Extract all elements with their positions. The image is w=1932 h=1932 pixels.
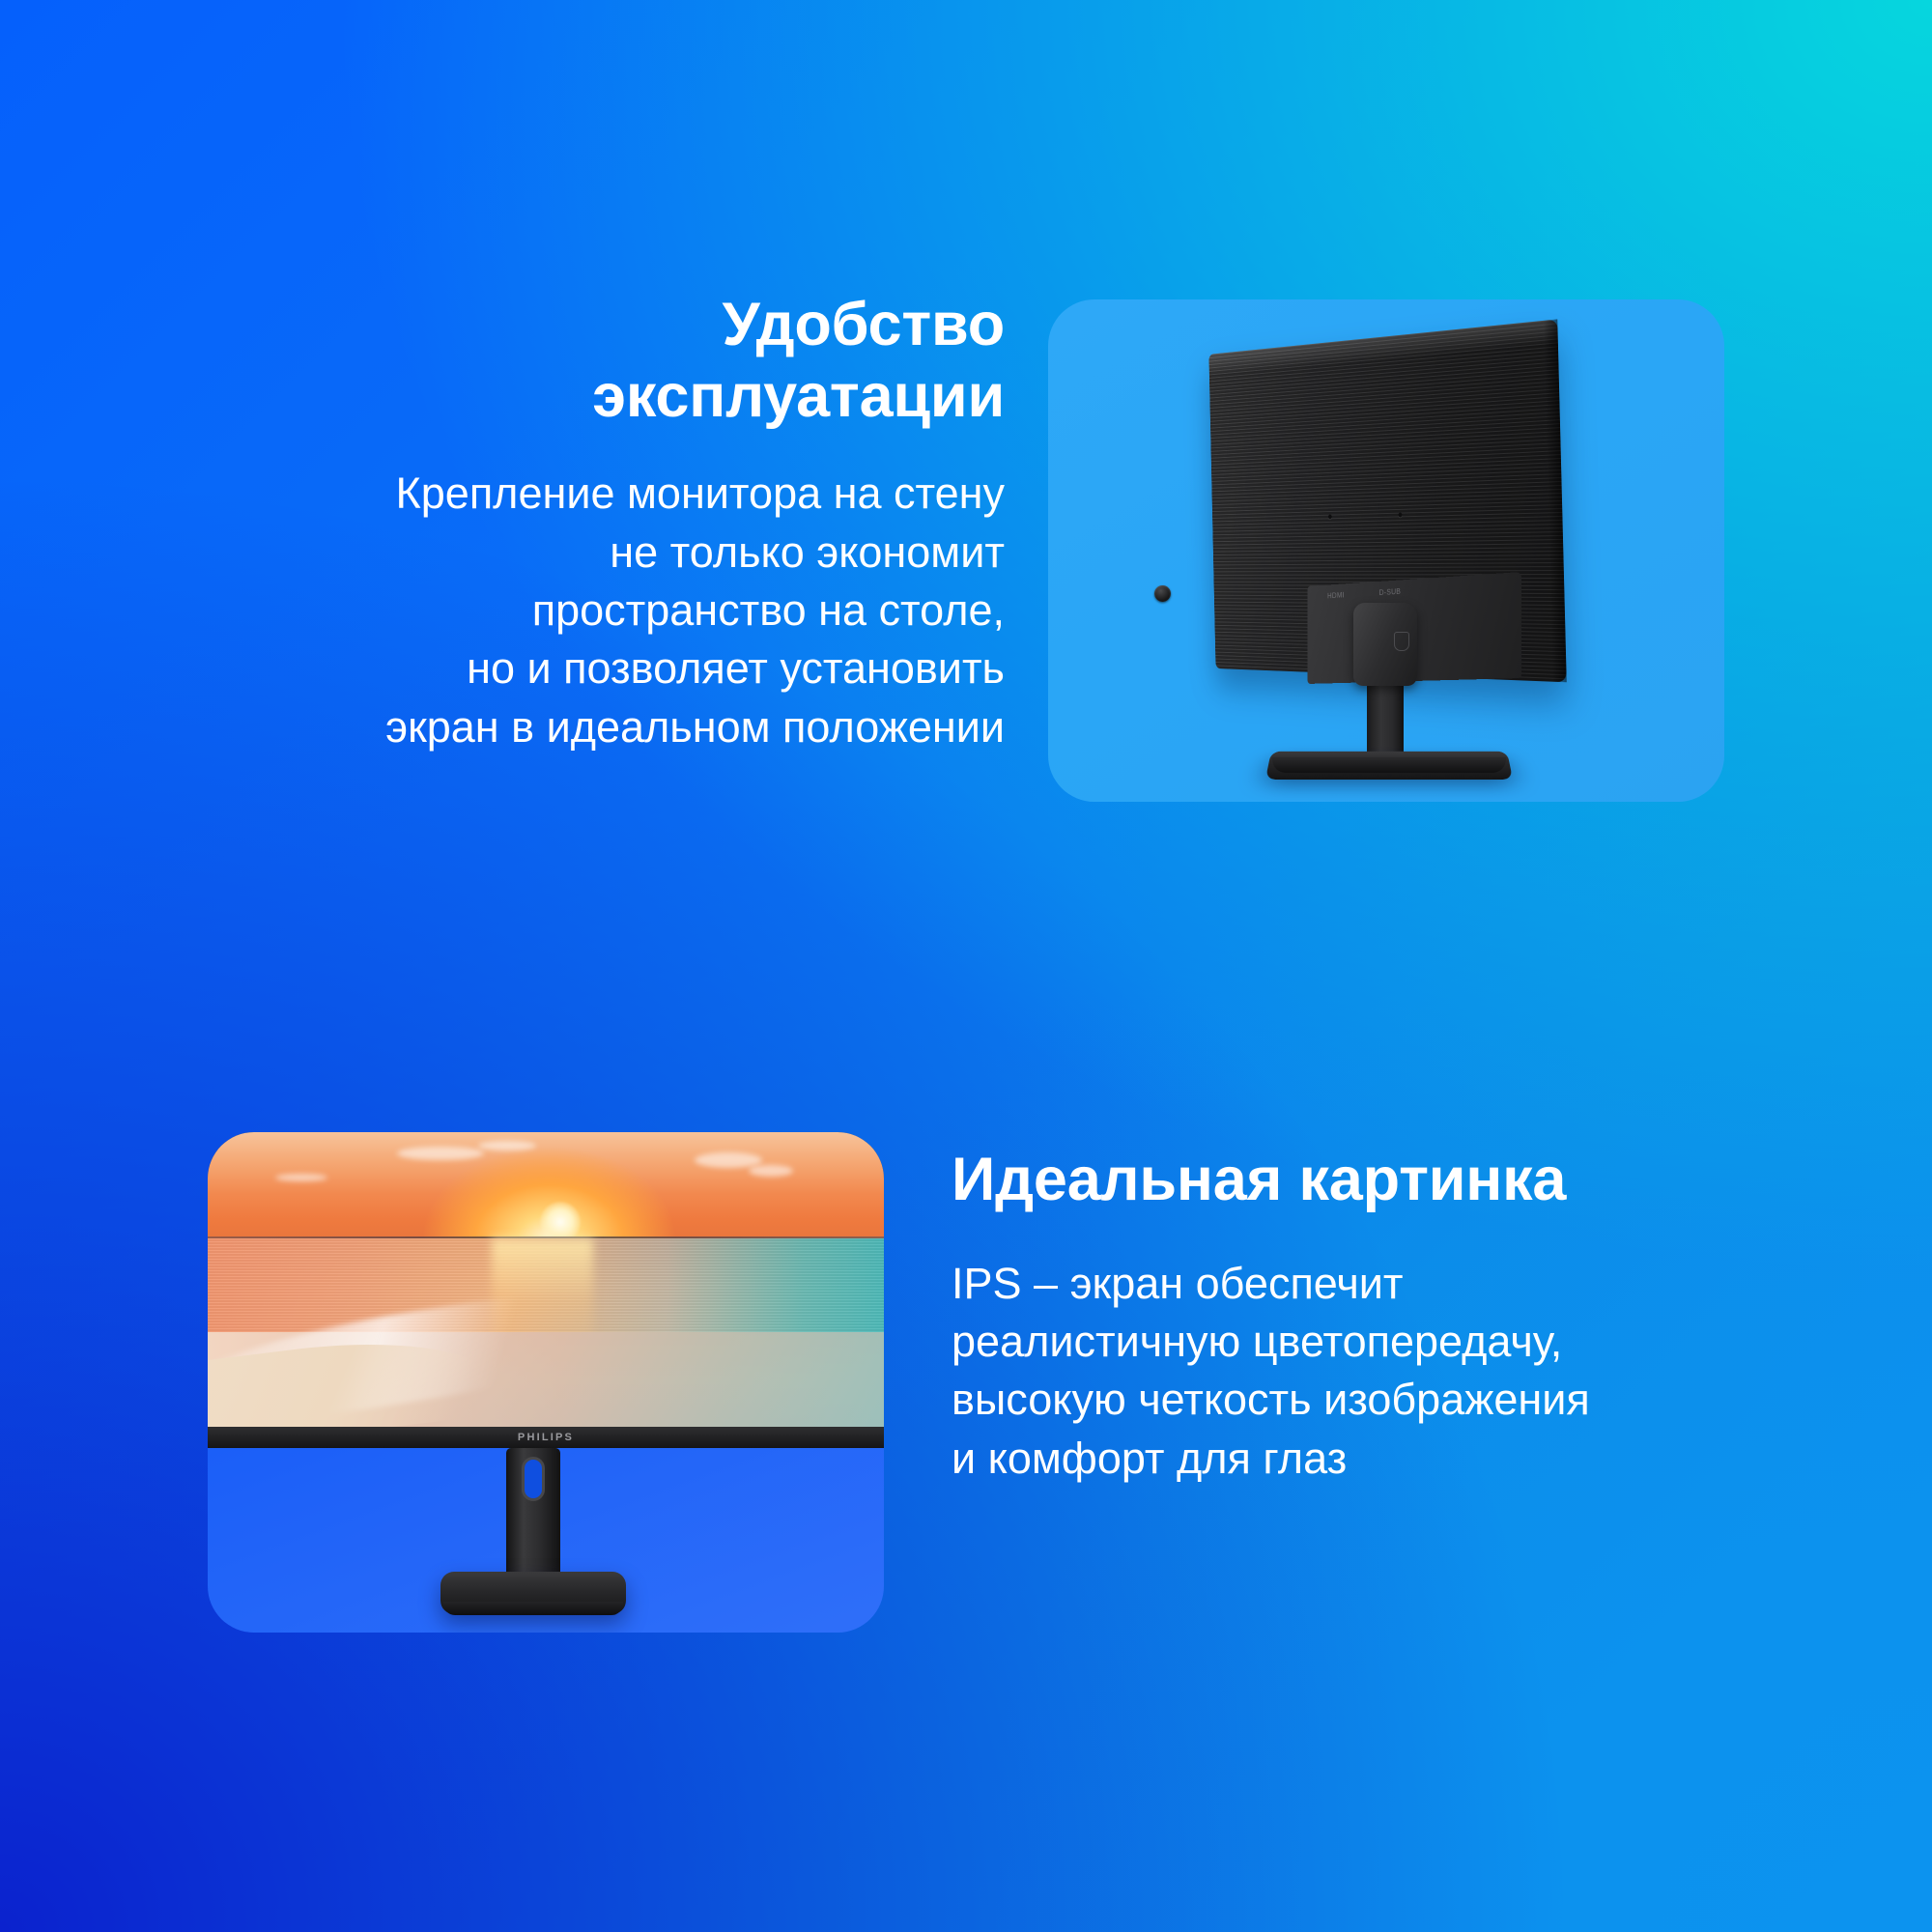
picture-quality-text-block: Идеальная картинка IPS – экран обеспечит… <box>952 1145 1802 1488</box>
monitor-rear-image: HDMI D-SUB <box>1048 299 1724 802</box>
vesa-hole-icon <box>1328 515 1332 520</box>
philips-shield-icon <box>1394 632 1409 651</box>
stand-base-lip <box>1272 757 1506 773</box>
rear-view-card: HDMI D-SUB <box>1048 299 1724 802</box>
port-label-hdmi: HDMI <box>1327 591 1345 600</box>
monitor-bezel: PHILIPS <box>208 1427 884 1448</box>
philips-brand-label: PHILIPS <box>518 1432 574 1443</box>
stand-base-lip <box>443 1602 623 1615</box>
port-label-dsub: D-SUB <box>1379 587 1402 597</box>
cloud-shape <box>275 1174 327 1181</box>
usability-body: Крепление монитора на стену не только эк… <box>174 465 1005 755</box>
power-button-icon <box>1154 585 1171 602</box>
cloud-shape <box>749 1165 793 1177</box>
picture-quality-title: Идеальная картинка <box>952 1145 1802 1216</box>
cable-management-slot <box>522 1457 545 1501</box>
front-view-card: PHILIPS <box>208 1132 884 1633</box>
monitor-front-image: PHILIPS <box>208 1132 884 1633</box>
picture-quality-body: IPS – экран обеспечит реалистичную цвето… <box>952 1255 1802 1488</box>
usability-title: Удобство эксплуатации <box>174 290 1005 432</box>
vesa-hole-icon <box>1398 513 1402 518</box>
promo-banner: Удобство эксплуатации Крепление монитора… <box>0 0 1932 1932</box>
stand-head <box>1353 603 1417 686</box>
usability-text-block: Удобство эксплуатации Крепление монитора… <box>174 290 1005 756</box>
monitor-screen <box>208 1132 884 1427</box>
